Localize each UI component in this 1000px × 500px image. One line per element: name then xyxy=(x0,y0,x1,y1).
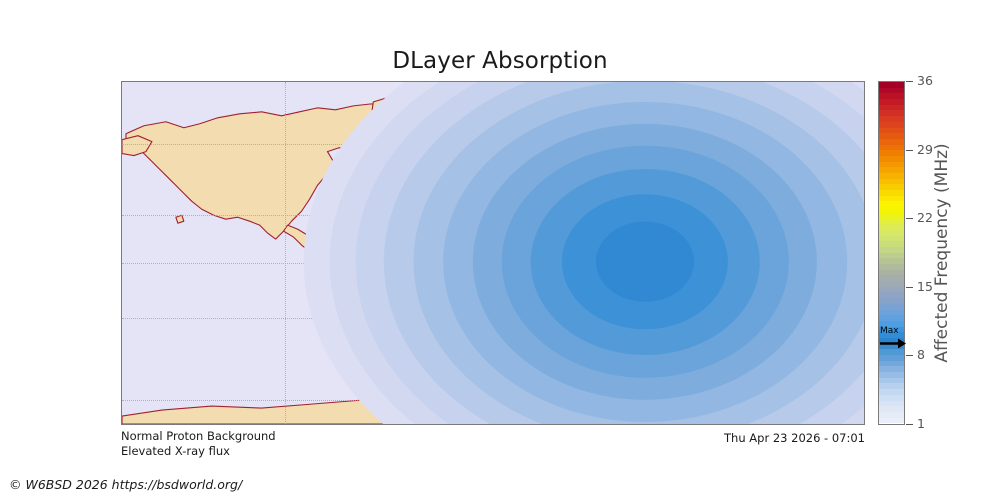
status-line-1: Normal Proton Background xyxy=(121,429,276,444)
copyright-notice: © W6BSD 2026 https://bsdworld.org/ xyxy=(9,477,242,492)
colorbar-segment-59 xyxy=(879,418,904,424)
colorbar-tick-8 xyxy=(906,355,913,356)
colorbar-tick-label-8: 8 xyxy=(917,349,925,362)
colorbar-tick-1 xyxy=(906,424,913,425)
colorbar-tick-29 xyxy=(906,150,913,151)
page-title: DLayer Absorption xyxy=(0,48,1000,74)
colorbar[interactable] xyxy=(878,81,905,425)
colorbar-axis-label: Affected Frequency (MHz) xyxy=(928,81,956,425)
colorbar-tick-36 xyxy=(906,81,913,82)
status-line-2: Elevated X-ray flux xyxy=(121,444,276,459)
colorbar-tick-15 xyxy=(906,287,913,288)
status-text: Normal Proton Background Elevated X-ray … xyxy=(121,429,276,459)
figure-canvas: DLayer Absorption xyxy=(0,0,1000,500)
timestamp: Thu Apr 23 2026 - 07:01 xyxy=(724,431,865,446)
colorbar-tick-22 xyxy=(906,218,913,219)
land-coastlines xyxy=(122,82,864,424)
map-plot-area[interactable] xyxy=(121,81,865,425)
colorbar-tick-label-1: 1 xyxy=(917,418,925,431)
